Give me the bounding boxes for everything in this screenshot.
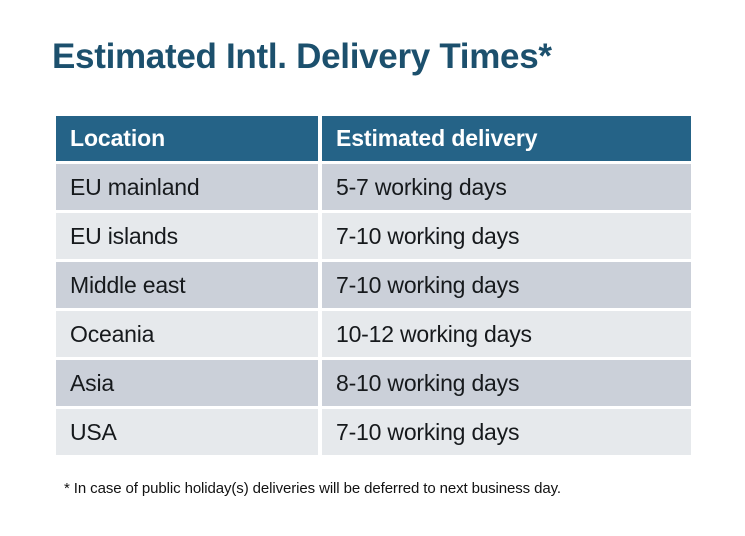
cell-delivery: 7-10 working days — [322, 409, 691, 455]
cell-location: USA — [56, 409, 318, 455]
table-row: EU islands 7-10 working days — [56, 213, 691, 259]
table-row: EU mainland 5-7 working days — [56, 164, 691, 210]
page-title: Estimated Intl. Delivery Times* — [52, 36, 552, 78]
table-header-row: Location Estimated delivery — [56, 116, 691, 161]
cell-delivery: 10-12 working days — [322, 311, 691, 357]
cell-delivery: 8-10 working days — [322, 360, 691, 406]
table-footnote: * In case of public holiday(s) deliverie… — [64, 479, 561, 499]
cell-location: Middle east — [56, 262, 318, 308]
table-row: Asia 8-10 working days — [56, 360, 691, 406]
cell-delivery: 5-7 working days — [322, 164, 691, 210]
table-row: USA 7-10 working days — [56, 409, 691, 455]
cell-delivery: 7-10 working days — [322, 262, 691, 308]
column-header-estimated-delivery: Estimated delivery — [322, 116, 691, 161]
delivery-times-page: Estimated Intl. Delivery Times* Location… — [0, 0, 745, 536]
cell-delivery: 7-10 working days — [322, 213, 691, 259]
column-header-location: Location — [56, 116, 318, 161]
table-row: Oceania 10-12 working days — [56, 311, 691, 357]
cell-location: EU islands — [56, 213, 318, 259]
cell-location: Oceania — [56, 311, 318, 357]
cell-location: EU mainland — [56, 164, 318, 210]
table-body: EU mainland 5-7 working days EU islands … — [56, 164, 691, 455]
table-header: Location Estimated delivery — [56, 116, 691, 161]
table-row: Middle east 7-10 working days — [56, 262, 691, 308]
estimated-delivery-times-table: Location Estimated delivery EU mainland … — [52, 113, 695, 458]
cell-location: Asia — [56, 360, 318, 406]
